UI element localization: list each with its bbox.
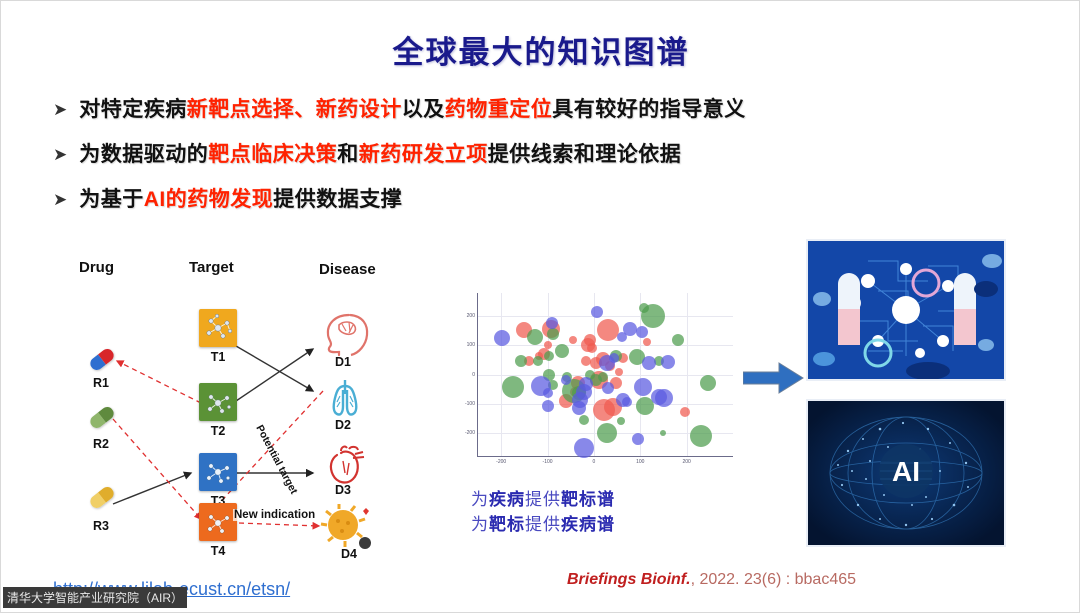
bullet-segment: 以及 bbox=[402, 98, 445, 121]
bullet-arrow-icon: ➤ bbox=[53, 97, 67, 123]
bullet-segment: 提供线索和理论依据 bbox=[488, 143, 682, 166]
scatter-bubble bbox=[636, 326, 648, 338]
disease-label-d1: D1 bbox=[323, 355, 363, 369]
scatter-bubble bbox=[597, 319, 619, 341]
scatter-plot-area: -200-1000100200-200-1000100200 bbox=[477, 293, 733, 457]
caption-seg: 提供 bbox=[525, 490, 561, 509]
scatter-bubble bbox=[555, 344, 569, 358]
target-square-t2 bbox=[199, 383, 237, 421]
scatter-bubble bbox=[543, 388, 553, 398]
target-label-t1: T1 bbox=[198, 350, 238, 364]
target-square-t4 bbox=[199, 503, 237, 541]
watermark-label: 清华大学智能产业研究院（AIR） bbox=[3, 587, 187, 608]
page-title: 全球最大的知识图谱 bbox=[1, 27, 1080, 72]
scatter-bubble bbox=[680, 407, 690, 417]
caption-seg: 提供 bbox=[525, 515, 561, 534]
target-label-t2: T2 bbox=[198, 424, 238, 438]
y-axis-tick-label: 100 bbox=[467, 342, 475, 348]
caption-seg-bold: 靶标谱 bbox=[561, 490, 615, 509]
lungs-icon bbox=[319, 376, 371, 420]
citation-journal: Briefings Bioinf. bbox=[567, 571, 691, 588]
heart-icon bbox=[319, 441, 371, 489]
scatter-bubble bbox=[515, 355, 527, 367]
bullet-segment-highlight: AI的药物发现 bbox=[144, 188, 274, 211]
disease-label-d3: D3 bbox=[323, 483, 363, 497]
scatter-bubble bbox=[609, 353, 619, 363]
scatter-bubble bbox=[533, 356, 543, 366]
scatter-bubble bbox=[581, 356, 591, 366]
scatter-bubble bbox=[602, 382, 614, 394]
scatter-bubble bbox=[494, 330, 510, 346]
scatter-bubble bbox=[690, 425, 712, 447]
drug-label-r2: R2 bbox=[81, 437, 121, 451]
scatter-bubble bbox=[634, 378, 652, 396]
scatter-bubble bbox=[574, 438, 594, 458]
bullet-segment-highlight: 靶点临床决策 bbox=[208, 143, 337, 166]
scatter-bubble bbox=[587, 343, 597, 353]
caption-seg-bold: 疾病谱 bbox=[561, 515, 615, 534]
drug-label-r3: R3 bbox=[81, 519, 121, 533]
bullet-text-3: 为基于AI的药物发现提供数据支撑 bbox=[79, 187, 402, 213]
caption-seg: 为 bbox=[471, 490, 489, 509]
x-axis-tick-label: -100 bbox=[543, 459, 553, 465]
scatter-bubble bbox=[527, 329, 543, 345]
scatter-caption: 为疾病提供靶标谱 为靶标提供疾病谱 bbox=[471, 487, 615, 537]
scatter-bubble bbox=[655, 389, 673, 407]
bullet-list: ➤ 对特定疾病新靶点选择、新药设计以及药物重定位具有较好的指导意义 ➤ 为数据驱… bbox=[53, 97, 1033, 232]
scatter-bubble bbox=[502, 376, 524, 398]
scatter-bubble bbox=[700, 375, 716, 391]
scatter-bubble bbox=[569, 336, 577, 344]
network-illustration bbox=[808, 241, 1004, 379]
drug-target-disease-diagram: Drug Target Disease bbox=[61, 251, 411, 571]
scatter-bubble bbox=[661, 355, 675, 369]
edge-label-new-indication: New indication bbox=[233, 509, 316, 521]
scatter-caption-line1: 为疾病提供靶标谱 bbox=[471, 487, 615, 512]
molecule-icon bbox=[199, 309, 237, 347]
y-axis-tick-label: -200 bbox=[465, 430, 475, 436]
brain-head-icon bbox=[319, 311, 371, 357]
bullet-item-2: ➤ 为数据驱动的靶点临床决策和新药研发立项提供线索和理论依据 bbox=[53, 142, 1033, 168]
scatter-bubble bbox=[544, 341, 552, 349]
scatter-bubble bbox=[660, 430, 666, 436]
bullet-segment: 为数据驱动的 bbox=[79, 143, 208, 166]
ai-globe-image: AI bbox=[806, 399, 1006, 547]
target-square-t3 bbox=[199, 453, 237, 491]
y-axis-tick-label: 0 bbox=[472, 372, 475, 378]
slide-canvas: 全球最大的知识图谱 ➤ 对特定疾病新靶点选择、新药设计以及药物重定位具有较好的指… bbox=[0, 0, 1080, 613]
scatter-bubble bbox=[622, 397, 632, 407]
bullet-segment: 为基于 bbox=[79, 188, 144, 211]
x-axis-tick-label: -200 bbox=[496, 459, 506, 465]
virus-icon bbox=[317, 503, 375, 551]
caption-seg: 为 bbox=[471, 515, 489, 534]
scatter-caption-line2: 为靶标提供疾病谱 bbox=[471, 512, 615, 537]
scatter-bubble bbox=[617, 417, 625, 425]
drug-label-r1: R1 bbox=[81, 376, 121, 390]
bullet-segment: 提供数据支撑 bbox=[273, 188, 402, 211]
bullet-text-2: 为数据驱动的靶点临床决策和新药研发立项提供线索和理论依据 bbox=[79, 142, 681, 168]
molecule-icon bbox=[199, 453, 237, 491]
bullet-segment-highlight: 药物重定位 bbox=[445, 98, 553, 121]
target-label-t4: T4 bbox=[198, 544, 238, 558]
bullet-segment: 对特定疾病 bbox=[79, 98, 187, 121]
x-axis-tick-label: 100 bbox=[636, 459, 644, 465]
x-axis-tick-label: 200 bbox=[682, 459, 690, 465]
scatter-bubble bbox=[579, 377, 593, 391]
bubble-scatter-chart: -200-1000100200-200-1000100200 bbox=[449, 289, 739, 479]
bullet-item-3: ➤ 为基于AI的药物发现提供数据支撑 bbox=[53, 187, 1033, 213]
scatter-bubble bbox=[623, 322, 637, 336]
disease-label-d4: D4 bbox=[329, 547, 369, 561]
bullet-text-1: 对特定疾病新靶点选择、新药设计以及药物重定位具有较好的指导意义 bbox=[79, 97, 746, 123]
bullet-segment: 具有较好的指导意义 bbox=[552, 98, 746, 121]
scatter-bubble bbox=[642, 356, 656, 370]
x-axis-tick-label: 0 bbox=[593, 459, 596, 465]
y-axis-tick-label: -100 bbox=[465, 401, 475, 407]
drug-ai-network-image bbox=[806, 239, 1006, 381]
citation: Briefings Bioinf., 2022. 23(6) : bbac465 bbox=[567, 571, 856, 589]
caption-seg-bold: 疾病 bbox=[489, 490, 525, 509]
scatter-bubble bbox=[597, 423, 617, 443]
target-square-t1 bbox=[199, 309, 237, 347]
bullet-item-1: ➤ 对特定疾病新靶点选择、新药设计以及药物重定位具有较好的指导意义 bbox=[53, 97, 1033, 123]
gridline-horizontal bbox=[478, 345, 733, 346]
molecule-icon bbox=[199, 503, 237, 541]
scatter-bubble bbox=[544, 351, 554, 361]
bullet-segment: 和 bbox=[337, 143, 359, 166]
scatter-bubble bbox=[598, 372, 608, 382]
ai-label: AI bbox=[892, 456, 920, 487]
caption-seg-bold: 靶标 bbox=[489, 515, 525, 534]
bullet-arrow-icon: ➤ bbox=[53, 142, 67, 168]
molecule-icon bbox=[199, 383, 237, 421]
scatter-bubble bbox=[579, 415, 589, 425]
disease-label-d2: D2 bbox=[323, 418, 363, 432]
scatter-bubble bbox=[542, 400, 554, 412]
y-axis-tick-label: 200 bbox=[467, 313, 475, 319]
scatter-bubble bbox=[547, 328, 559, 340]
bullet-segment-highlight: 新靶点选择、新药设计 bbox=[187, 98, 402, 121]
scatter-bubble bbox=[632, 433, 644, 445]
scatter-bubble bbox=[672, 334, 684, 346]
bullet-segment-highlight: 新药研发立项 bbox=[359, 143, 488, 166]
scatter-bubble bbox=[591, 306, 603, 318]
citation-rest: , 2022. 23(6) : bbac465 bbox=[691, 571, 856, 588]
bullet-arrow-icon: ➤ bbox=[53, 187, 67, 213]
flow-arrow-icon bbox=[743, 361, 805, 395]
ai-particle-sphere-icon: AI bbox=[808, 401, 1004, 545]
scatter-bubble bbox=[546, 317, 558, 329]
gridline-horizontal bbox=[478, 316, 733, 317]
